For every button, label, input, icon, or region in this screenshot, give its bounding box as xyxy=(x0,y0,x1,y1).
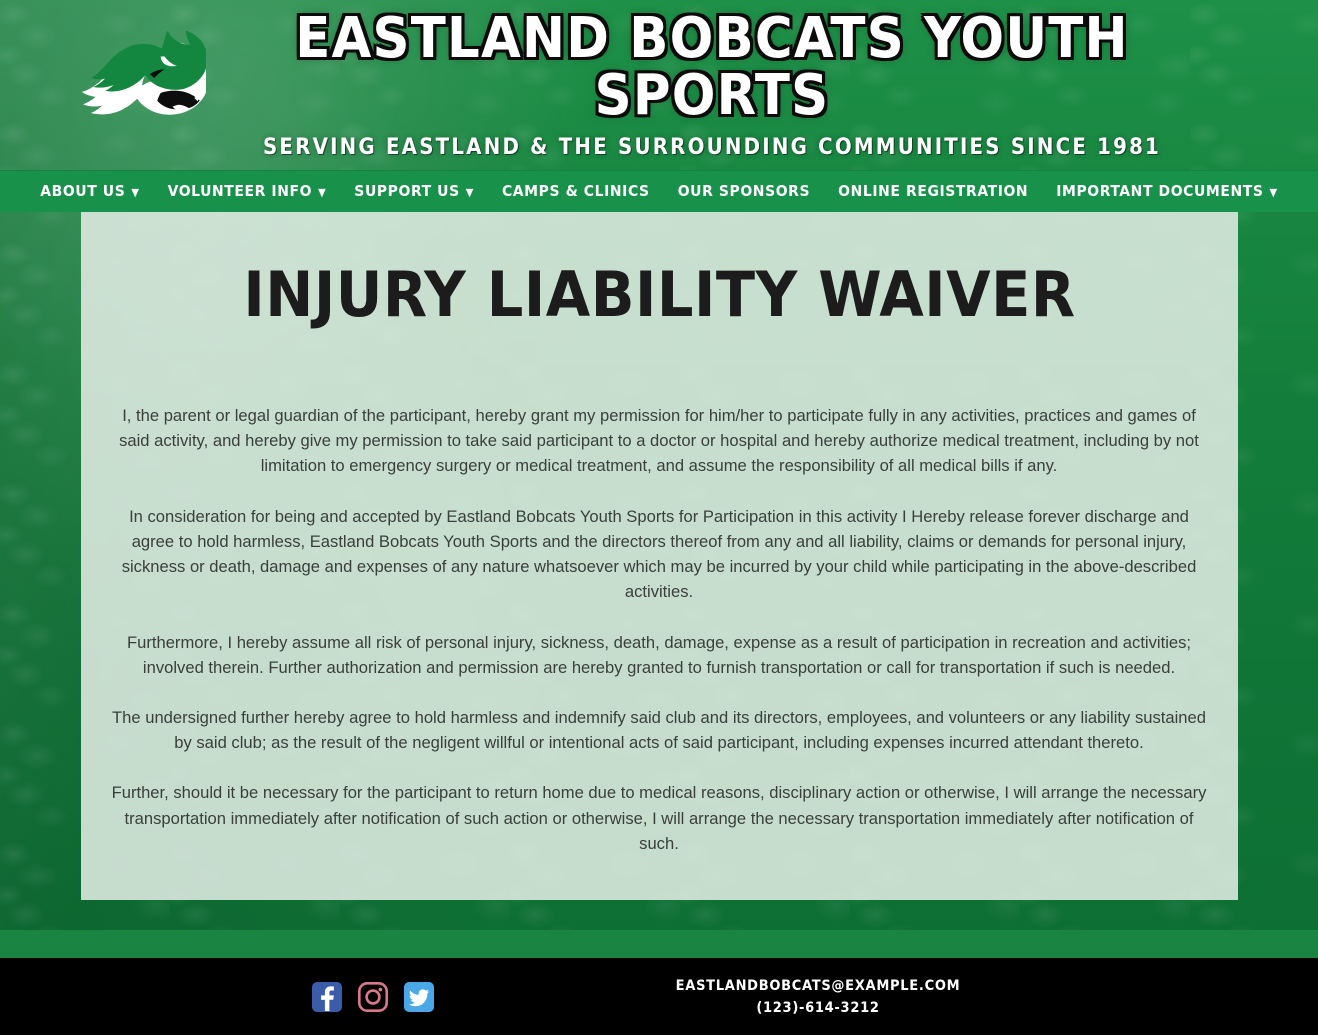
chevron-down-icon: ▼ xyxy=(131,187,139,198)
nav-label: ABOUT US xyxy=(40,182,125,200)
site-title: EASTLAND BOBCATS YOUTH SPORTS xyxy=(196,10,1228,124)
facebook-icon[interactable] xyxy=(312,982,342,1012)
nav-item-important-documents[interactable]: IMPORTANT DOCUMENTS ▼ xyxy=(1042,182,1292,200)
nav-label: CAMPS & CLINICS xyxy=(502,182,650,200)
waiver-paragraph: Furthermore, I hereby assume all risk of… xyxy=(102,630,1217,680)
nav-item-support-us[interactable]: SUPPORT US ▼ xyxy=(340,182,488,200)
nav-item-camps-and-clinics[interactable]: CAMPS & CLINICS xyxy=(488,182,664,200)
nav-item-our-sponsors[interactable]: OUR SPONSORS xyxy=(664,182,824,200)
chevron-down-icon: ▼ xyxy=(1270,187,1278,198)
waiver-paragraph: The undersigned further hereby agree to … xyxy=(102,705,1217,755)
main-navigation: ABOUT US ▼ VOLUNTEER INFO ▼ SUPPORT US ▼… xyxy=(0,170,1318,212)
bobcat-mascot-logo[interactable] xyxy=(78,29,206,141)
site-tagline: SERVING EASTLAND & THE SURROUNDING COMMU… xyxy=(206,135,1218,160)
site-header: EASTLAND BOBCATS YOUTH SPORTS SERVING EA… xyxy=(0,0,1318,170)
nav-item-volunteer-info[interactable]: VOLUNTEER INFO ▼ xyxy=(154,182,341,200)
waiver-paragraph: I, the parent or legal guardian of the p… xyxy=(102,403,1217,479)
waiver-text: I, the parent or legal guardian of the p… xyxy=(81,403,1238,856)
twitter-icon[interactable] xyxy=(404,982,434,1012)
chevron-down-icon: ▼ xyxy=(466,187,474,198)
site-title-block: EASTLAND BOBCATS YOUTH SPORTS SERVING EA… xyxy=(206,10,1318,160)
panel-spacer xyxy=(0,900,1318,958)
nav-label: ONLINE REGISTRATION xyxy=(838,182,1028,200)
page-title: INJURY LIABILITY WAIVER xyxy=(63,258,1255,331)
contact-phone[interactable]: (123)-614-3212 xyxy=(676,1000,961,1016)
nav-label: SUPPORT US xyxy=(354,182,459,200)
nav-item-online-registration[interactable]: ONLINE REGISTRATION xyxy=(824,182,1042,200)
nav-label: OUR SPONSORS xyxy=(678,182,810,200)
nav-label: IMPORTANT DOCUMENTS xyxy=(1056,182,1263,200)
content-panel: INJURY LIABILITY WAIVER I, the parent or… xyxy=(81,212,1238,900)
contact-email[interactable]: EASTLANDBOBCATS@EXAMPLE.COM xyxy=(676,978,961,994)
site-footer: EASTLANDBOBCATS@EXAMPLE.COM (123)-614-32… xyxy=(0,958,1318,1035)
nav-item-about-us[interactable]: ABOUT US ▼ xyxy=(26,182,153,200)
chevron-down-icon: ▼ xyxy=(318,187,326,198)
waiver-paragraph: In consideration for being and accepted … xyxy=(102,504,1217,605)
instagram-icon[interactable] xyxy=(358,982,388,1012)
nav-label: VOLUNTEER INFO xyxy=(168,182,313,200)
contact-info: EASTLANDBOBCATS@EXAMPLE.COM (123)-614-32… xyxy=(676,978,961,1016)
waiver-paragraph: Further, should it be necessary for the … xyxy=(102,780,1217,856)
social-links xyxy=(312,982,434,1012)
